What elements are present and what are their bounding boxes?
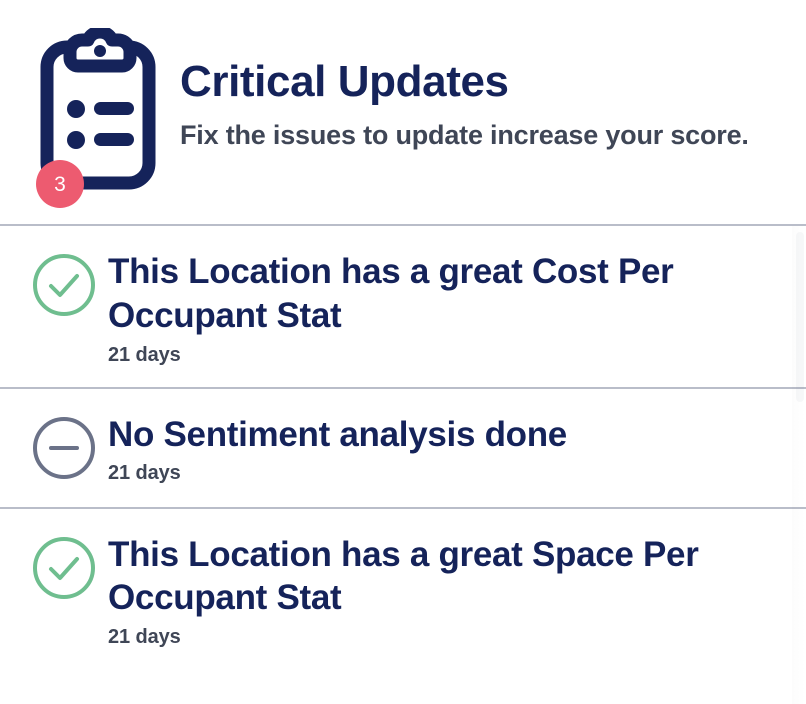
check-circle-icon xyxy=(26,531,102,607)
list-item-title: No Sentiment analysis done xyxy=(108,413,780,457)
list-item-meta: 21 days xyxy=(108,625,780,649)
list-item-body: This Location has a great Space Per Occu… xyxy=(102,531,780,650)
updates-list: This Location has a great Cost Per Occup… xyxy=(0,224,806,669)
list-item[interactable]: This Location has a great Cost Per Occup… xyxy=(0,226,806,389)
badge-count: 3 xyxy=(36,160,84,208)
list-item-title: This Location has a great Space Per Occu… xyxy=(108,533,780,621)
header-icon-wrap: 3 xyxy=(28,28,160,196)
minus-circle-icon xyxy=(26,411,102,487)
list-item-body: This Location has a great Cost Per Occup… xyxy=(102,248,780,367)
list-item[interactable]: This Location has a great Space Per Occu… xyxy=(0,509,806,670)
critical-updates-panel: 3 Critical Updates Fix the issues to upd… xyxy=(0,0,806,704)
list-item-meta: 21 days xyxy=(108,343,780,367)
scrollbar-thumb[interactable] xyxy=(796,232,804,402)
list-item-title: This Location has a great Cost Per Occup… xyxy=(108,250,780,338)
page-subtitle: Fix the issues to update increase your s… xyxy=(180,118,780,154)
header-text-block: Critical Updates Fix the issues to updat… xyxy=(160,24,786,154)
page-title: Critical Updates xyxy=(180,60,786,104)
list-item[interactable]: No Sentiment analysis done 21 days xyxy=(0,389,806,509)
check-circle-icon xyxy=(26,248,102,324)
panel-header: 3 Critical Updates Fix the issues to upd… xyxy=(0,0,806,224)
list-item-body: No Sentiment analysis done 21 days xyxy=(102,411,780,486)
list-item-meta: 21 days xyxy=(108,461,780,485)
